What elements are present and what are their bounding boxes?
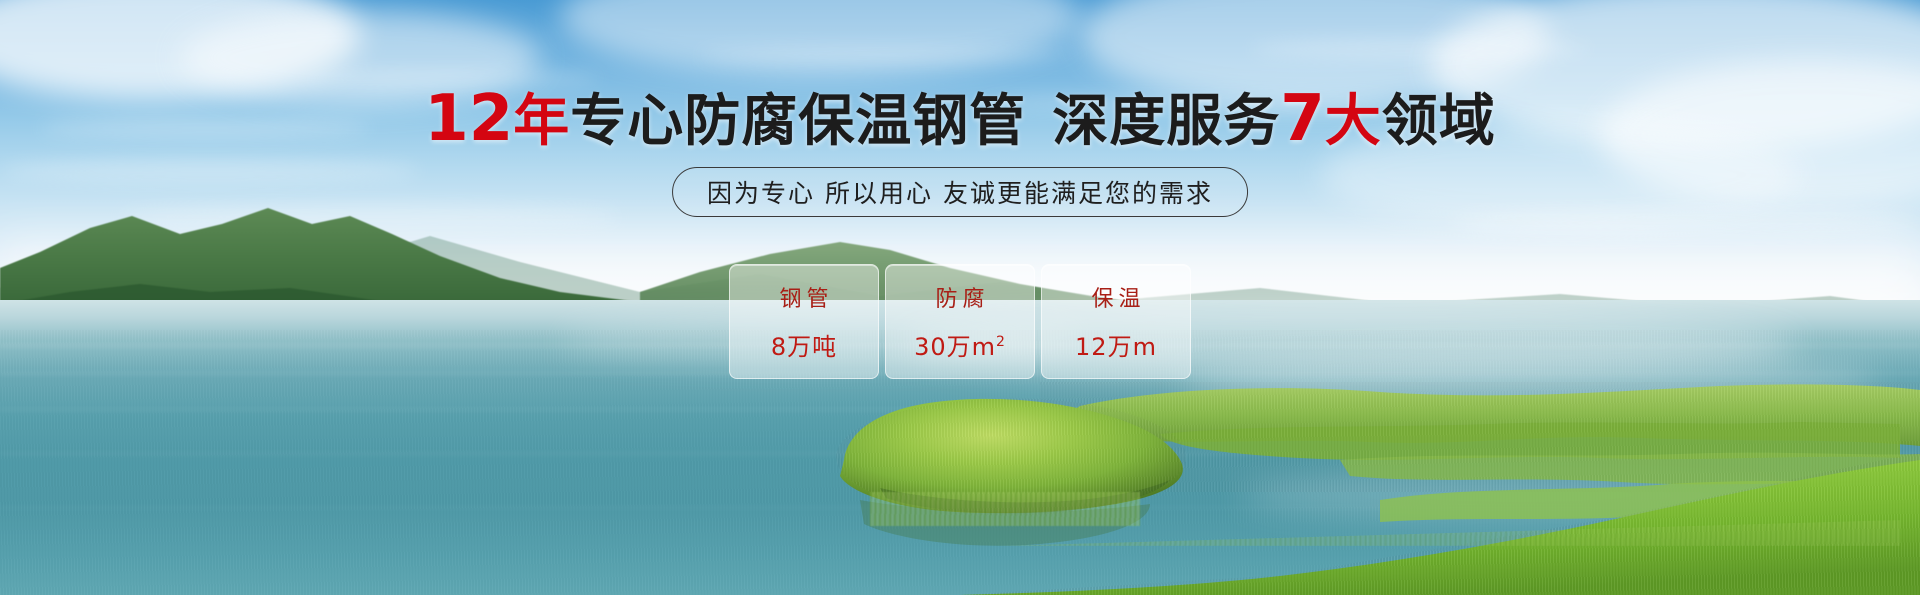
stat-card-label: 防腐 [930, 281, 989, 313]
stat-card-label: 钢管 [774, 281, 833, 313]
stat-card-anticorrosion[interactable]: 防腐 30万m2 [885, 264, 1035, 379]
stat-card-insulation[interactable]: 保温 12万m [1041, 264, 1191, 379]
stat-card-steel-pipe[interactable]: 钢管 8万吨 [729, 264, 879, 379]
stat-card-value-text: 30万m [914, 333, 996, 361]
headline-fields-number: 7 [1280, 82, 1325, 156]
subtitle-text: 因为专心 所以用心 友诚更能满足您的需求 [707, 174, 1213, 210]
stat-card-value: 8万吨 [771, 327, 837, 362]
page-title: 12年专心防腐保温钢管深度服务7大领域 [0, 86, 1920, 153]
stat-card-value-superscript: 2 [996, 334, 1006, 350]
stat-card-label: 保温 [1086, 281, 1145, 313]
headline-years-number: 12 [424, 82, 513, 156]
headline-service-phrase: 深度服务 [1052, 89, 1280, 154]
cloud-streak [700, 48, 1080, 62]
cloud-streak [1250, 40, 1590, 58]
subtitle-pill: 因为专心 所以用心 友诚更能满足您的需求 [672, 167, 1248, 217]
headline-years-unit: 年 [513, 89, 570, 154]
cloud-streak [0, 160, 420, 182]
hero-banner: 12年专心防腐保温钢管深度服务7大领域 因为专心 所以用心 友诚更能满足您的需求… [0, 0, 1920, 595]
headline-fields-word: 领域 [1382, 89, 1496, 154]
stat-card-value: 12万m [1075, 327, 1157, 362]
stat-card-value: 30万m2 [914, 327, 1006, 362]
stat-card-group: 钢管 8万吨 防腐 30万m2 保温 12万m [729, 264, 1191, 379]
headline-main-phrase: 专心防腐保温钢管 [570, 89, 1026, 154]
headline-fields-unit: 大 [1325, 89, 1382, 154]
stat-card-value-text: 8万吨 [771, 333, 837, 361]
stat-card-value-text: 12万m [1075, 333, 1157, 361]
